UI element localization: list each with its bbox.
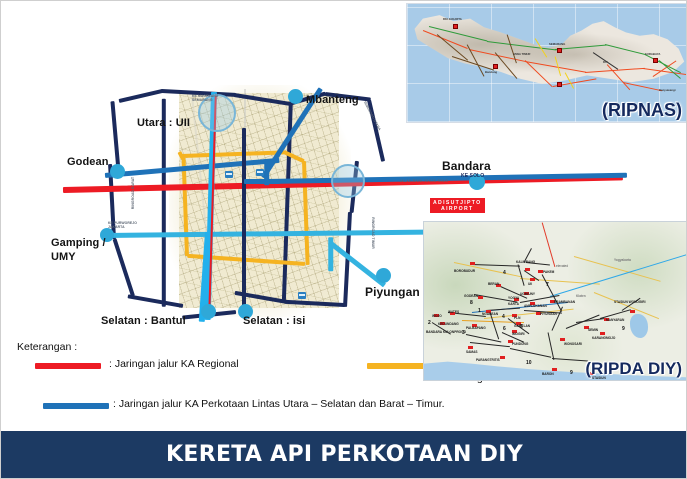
station-dot-piyungan[interactable] <box>376 268 391 283</box>
map-label-gamping: Gamping / <box>51 237 106 249</box>
ringroad-segment-w2 <box>113 238 135 296</box>
ripda-route-number-7: 7 <box>546 282 549 288</box>
map-label-godean: Godean <box>67 156 109 168</box>
ripda-label-pundong: PUNDONG <box>512 342 528 346</box>
ripda-label-yogyakarta: Yogyakarta <box>614 258 631 262</box>
ripda-label-wojo: WOJO <box>432 314 442 318</box>
ripda-label-samas: SAMAS <box>466 350 478 354</box>
ripda-route-number-4b: 4 <box>503 270 506 276</box>
airport-marker-adisutjipto: ADISUTJIPTO AIRPORT <box>430 198 485 213</box>
map-label-piyungan: Piyungan <box>365 286 420 298</box>
ringroad-inner-west <box>162 99 166 307</box>
ripnas-node-surabaya <box>653 58 658 63</box>
interchange-circle-east <box>331 164 365 198</box>
annotation-ke-magelang-semarang: KE MAGELANG SEMARANG <box>192 94 219 102</box>
ripda-label-kedundang: KEDUNDANG <box>438 322 459 326</box>
ripda-station-samas <box>468 346 473 349</box>
ripda-label-semin: SEMIN <box>588 328 598 332</box>
ripda-label-yogya: YOGYA <box>508 296 519 300</box>
ripda-station-wonogiri <box>630 310 635 313</box>
annotation-ringroad-barat: RINGROAD BARAT <box>131 177 135 209</box>
ripda-label-karangmojo: KARANGMOJO <box>592 336 615 340</box>
map-label-utara-uii: Utara : UII <box>137 117 190 129</box>
ripnas-node-semarang <box>557 48 562 53</box>
annotation-ringroad-timur: RINGROAD TIMUR <box>371 217 375 249</box>
ripda-station-parangtritis <box>500 356 505 359</box>
ripda-station-baron <box>552 368 557 371</box>
ripda-label-bandara-kulonprogo: BANDARA KULONPROGO <box>426 330 466 334</box>
ripda-station-wonosari <box>560 338 565 341</box>
legend-title: Keterangan : <box>17 341 77 353</box>
ripda-station-godean <box>478 296 483 299</box>
ripda-label-manyaran: MANYARAN <box>606 318 624 322</box>
legend-swatch-inner-ring <box>367 363 429 369</box>
ripda-route-number-1: 1 <box>478 308 481 314</box>
ripda-label-pln: PLN <box>514 316 520 320</box>
ripnas-label-jakarta: DKI JAKARTA <box>443 17 462 21</box>
ripda-route-number-10: 10 <box>526 360 532 366</box>
ripda-label-borobudur: BOROBUDUR <box>454 269 475 273</box>
ripda-label-karta: KARTA <box>508 302 519 306</box>
ripda-route-number-2: 2 <box>428 320 431 326</box>
ripda-label-ngabean: NGABEAN <box>482 312 498 316</box>
annotation-ke-purworejo-jakarta: KE PURWOREJO JAKARTA <box>108 221 137 229</box>
ripda-station-karangmojo <box>600 332 605 335</box>
ripda-station-kaliurang <box>525 268 530 271</box>
map-label-umy: UMY <box>51 251 76 263</box>
ripda-label-stasiun-wonogiri: STASIUN WONOGIRI <box>614 300 645 304</box>
ripda-route-number-3: 3 <box>462 330 465 336</box>
ripda-label-piyungan: PIYUNGAN <box>540 312 557 316</box>
station-dot-bantul[interactable] <box>201 304 216 319</box>
ripda-label-pakem: PAKEM <box>543 270 554 274</box>
ripnas-node-bandung <box>493 64 498 69</box>
title-bar-text: KERETA API PERKOTAAN DIY <box>166 442 523 467</box>
ripda-station-pakem <box>538 270 543 273</box>
ripda-label-palbapang: PALBAPANG <box>466 326 486 330</box>
legend-text-regional: : Jaringan jalur KA Regional <box>109 358 239 370</box>
legend-text-urban: : Jaringan jalur KA Perkotaan Lintas Uta… <box>113 398 445 410</box>
map-label-selatan-isi: Selatan : isi <box>243 315 305 327</box>
urban-connector-center <box>244 179 280 184</box>
ripnas-label-bandung: Bandung <box>485 70 497 74</box>
ripda-route-number-9b: 9 <box>570 370 573 376</box>
ripda-label-elevated: elevated <box>556 264 568 268</box>
ripda-label-klaten: Klaten <box>576 294 586 298</box>
station-dot-godean[interactable] <box>110 164 125 179</box>
station-icon-south <box>298 292 306 299</box>
map-label-bandara: Bandara <box>442 160 491 172</box>
station-icon-lempuyangan <box>256 169 264 176</box>
inset-map-ripnas[interactable]: DKI JAKARTA SEMARANG SURABAYA JAWA TIMUR… <box>406 3 687 123</box>
legend-swatch-urban <box>43 403 109 409</box>
ripda-label-parangtritis: PARANGTRITIS <box>476 358 500 362</box>
ripnas-label-semarang: SEMARANG <box>549 42 565 46</box>
ripda-reservoir-wonogiri <box>630 314 648 338</box>
inset-caption-ripnas: (RIPNAS) <box>602 100 682 121</box>
ripda-route-number-6: 6 <box>503 326 506 332</box>
ripda-label-kaliurang: KALIURANG <box>516 260 535 264</box>
ringroad-center-trunk <box>242 128 246 314</box>
slide-root: Utara : UII Mbanteng Godean Bandara Gamp… <box>0 0 687 479</box>
ripda-label-ugm-uny: UGM/UNY <box>520 292 535 296</box>
station-icon-tugu <box>225 171 233 178</box>
annotation-ke-solo: KE SOLO <box>461 174 484 178</box>
ripda-route-number-4: 4 <box>502 314 505 320</box>
ripnas-label-jatim: DIY <box>603 60 608 64</box>
ringroad-segment-nw <box>119 89 164 103</box>
ripnas-label-banyuwangi: Banyuwangi <box>659 88 675 92</box>
ringroad-segment-w0 <box>110 101 120 165</box>
map-label-selatan-bantul: Selatan : Bantul <box>101 315 186 327</box>
ripda-label-uii: UII <box>528 282 532 286</box>
ripnas-label-jateng: JAWA TIMUR <box>513 52 530 56</box>
title-bar: KERETA API PERKOTAAN DIY <box>1 431 687 478</box>
ripda-route-number-5: 5 <box>520 324 523 330</box>
map-label-mbanteng: Mbanteng <box>306 94 359 106</box>
ripda-label-godean: GODEAN <box>464 294 478 298</box>
ripda-label-imogiri: IMOGIRI <box>512 332 525 336</box>
ripda-label-wates: WATES <box>448 310 459 314</box>
annotation-jalan-raya-jogja-solo: JALAN RAYA JOGJA-SOLO <box>399 179 448 183</box>
ripda-route-number-8: 8 <box>470 300 473 306</box>
station-dot-mbanteng[interactable] <box>288 89 303 104</box>
ripda-label-brambanan: BRAMBANAN <box>554 300 575 304</box>
ripda-station-uii <box>530 278 535 281</box>
urban-connector-center2 <box>265 163 270 185</box>
ripda-label-wonosari: WONOSARI <box>564 342 582 346</box>
ripnas-label-surabaya: SURABAYA <box>645 52 660 56</box>
urban-line-piyungan-link <box>329 237 334 271</box>
inset-caption-ripda-diy: (RIPDA DIY) <box>585 359 682 379</box>
ripda-label-baron: BARON <box>542 372 554 376</box>
ripda-label-amplukanan: AMPLUKANAN <box>524 304 547 308</box>
inset-map-ripda-diy[interactable]: BOROBUDUR KALIURANG PAKEM UII BERAN GODE… <box>423 221 687 381</box>
ripnas-node-yogyakarta <box>557 82 562 87</box>
ripnas-node-jakarta <box>453 24 458 29</box>
ripda-label-beran: BERAN <box>488 282 499 286</box>
ripda-station-borobudur <box>470 262 475 265</box>
ripda-route-number-9: 9 <box>622 326 625 332</box>
legend-swatch-regional <box>35 363 101 369</box>
